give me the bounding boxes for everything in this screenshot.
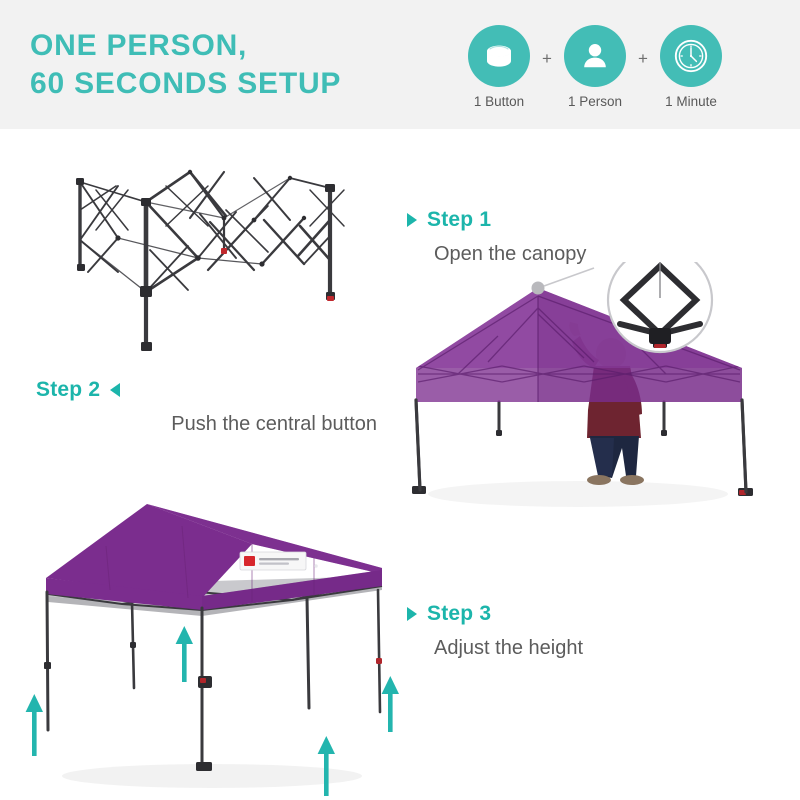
canopy-height-adjust-illustration	[2, 490, 402, 800]
step-2-block: Step 2 Push the central button	[36, 378, 381, 436]
height-arrow-left	[26, 694, 43, 756]
step-2-description: Push the central button	[36, 413, 377, 436]
collapsed-frame-graphic	[58, 160, 388, 360]
plus-separator-2: +	[632, 49, 654, 69]
height-arrow-right	[382, 676, 399, 732]
step-3-block: Step 3 Adjust the height	[407, 602, 583, 660]
feature-label-person: 1 Person	[568, 94, 622, 109]
step-1-block: Step 1 Open the canopy	[407, 208, 586, 266]
infographic-page: ONE PERSON, 60 SECONDS SETUP 1 Button +	[0, 0, 800, 800]
step-3-title: Step 3	[427, 602, 491, 626]
frame-foot-accents	[77, 248, 335, 351]
canopy-person-graphic	[398, 262, 800, 520]
center-hub-knob	[532, 282, 545, 295]
button-puck-icon	[481, 38, 517, 74]
feature-item-minute: 1 Minute	[654, 25, 728, 109]
height-arrow-center	[176, 626, 193, 682]
canopy-open-with-person-illustration	[398, 262, 800, 520]
height-arrow-front	[318, 736, 335, 796]
person-icon	[577, 38, 613, 74]
brand-tag	[240, 552, 306, 570]
center-hub-callout	[608, 262, 712, 352]
feature-item-person: 1 Person	[558, 25, 632, 109]
triangle-left-icon	[110, 383, 120, 397]
canopy-adjust-graphic	[2, 490, 402, 800]
triangle-right-icon	[407, 607, 417, 621]
feature-circle-button	[468, 25, 530, 87]
feature-circle-person	[564, 25, 626, 87]
feature-item-button: 1 Button	[462, 25, 536, 109]
triangle-right-icon	[407, 213, 417, 227]
collapsed-canopy-frame-illustration	[58, 160, 388, 360]
step-1-title: Step 1	[427, 208, 491, 232]
feature-circle-minute	[660, 25, 722, 87]
feature-label-minute: 1 Minute	[665, 94, 717, 109]
feature-icon-row: 1 Button + 1 Person +	[462, 25, 728, 109]
step-2-title: Step 2	[36, 378, 100, 402]
step-2-heading: Step 2	[36, 378, 381, 402]
header-band: ONE PERSON, 60 SECONDS SETUP 1 Button +	[0, 0, 800, 129]
step-1-heading: Step 1	[407, 208, 586, 232]
step-3-description: Adjust the height	[434, 637, 583, 660]
clock-icon	[672, 37, 710, 75]
plus-separator-1: +	[536, 49, 558, 69]
feature-label-button: 1 Button	[474, 94, 524, 109]
step-3-heading: Step 3	[407, 602, 583, 626]
callout-leader-line	[544, 268, 594, 286]
page-title: ONE PERSON, 60 SECONDS SETUP	[30, 27, 341, 103]
